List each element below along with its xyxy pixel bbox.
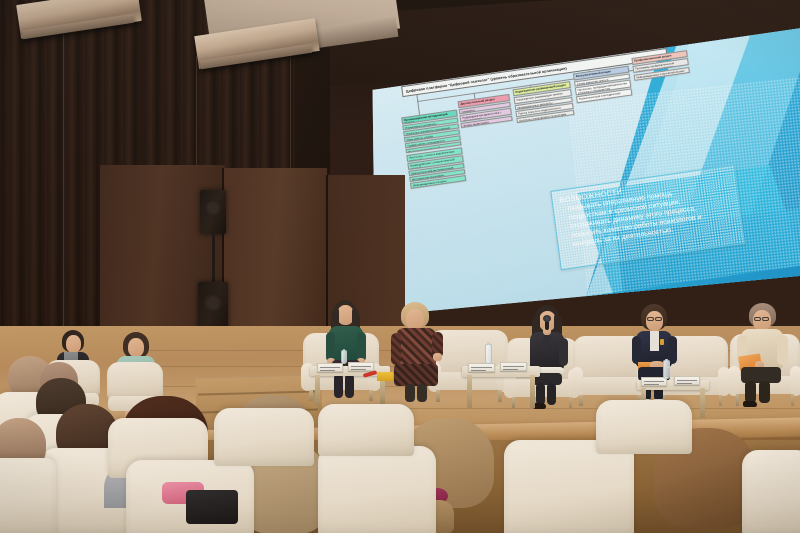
black-bag [186, 490, 238, 524]
leg-lower [405, 384, 415, 402]
name-card-line [320, 370, 334, 371]
name-card-line [320, 367, 340, 368]
name-card-line [351, 369, 365, 370]
head [406, 309, 424, 330]
diagram-column-consultative: Консультативный раздел Схема движения за… [573, 66, 633, 105]
loudspeaker-lower-grill [204, 294, 222, 312]
torso [396, 328, 436, 368]
skirt [394, 364, 438, 386]
blouse-white [650, 331, 659, 351]
arm-right [777, 335, 788, 365]
shoe [743, 401, 757, 407]
coffee-table-2 [462, 366, 540, 408]
arm-right [559, 338, 568, 366]
table-leg [700, 388, 705, 418]
table-leg [315, 375, 321, 406]
bottle-cap [343, 349, 345, 351]
name-card-line [644, 384, 658, 385]
bottle-cap [665, 359, 668, 362]
head [128, 338, 144, 357]
diagram-column-correctional: Коррекционно-развивающий раздел Коррекци… [513, 81, 575, 124]
arm-left [632, 336, 641, 364]
audience-seat-4 [0, 458, 56, 533]
leg-lower-2 [547, 383, 556, 405]
audience-seat-11 [318, 404, 414, 456]
diagram-column-diagnostic: Диагностический раздел Скрининги Индивид… [458, 94, 513, 129]
audience-seat-10 [214, 408, 314, 466]
wall-seam-3 [290, 50, 291, 170]
name-card-5 [641, 377, 667, 386]
glasses-icon [754, 317, 761, 321]
hand-right [433, 353, 442, 361]
yellow-folder [377, 372, 393, 381]
name-card-1 [317, 363, 343, 372]
glasses-icon-2 [762, 317, 769, 321]
name-card-line [503, 366, 524, 367]
panelist-5 [735, 303, 793, 405]
head [646, 311, 663, 331]
chair-back [107, 362, 163, 400]
lapel-badge [660, 339, 664, 345]
table-leg [530, 375, 535, 408]
audience-seat-7 [318, 446, 436, 533]
stage-wall-panel-2 [222, 168, 327, 338]
diagram-column-organizational: Организационно-методический раздел Норма… [401, 110, 466, 190]
audience-seat-9 [742, 450, 800, 533]
auditorium-photo-scene: Цифоровизация службы Цифровая платформа … [0, 0, 800, 533]
name-card-line [351, 366, 371, 367]
name-card-line [677, 380, 697, 381]
name-card-line [677, 383, 691, 384]
name-card-line [471, 367, 492, 368]
audience-seat-12 [596, 400, 692, 454]
panelist-2 [388, 302, 452, 404]
name-card-line [644, 381, 664, 382]
water-bottle-1 [341, 350, 347, 364]
head [66, 335, 81, 353]
water-bottle-3 [663, 360, 670, 379]
glasses-icon-2 [655, 317, 662, 321]
arm-left [391, 333, 401, 365]
wall-seam-1 [63, 30, 64, 330]
loudspeaker-upper-grill [205, 200, 221, 216]
table-leg [467, 375, 472, 408]
name-card-6 [674, 376, 700, 385]
leg-lower-2 [759, 381, 770, 403]
leg-lower-2 [417, 384, 427, 402]
chair-leg [719, 395, 723, 406]
diagram-drop-c1 [417, 101, 420, 115]
name-card-line [503, 369, 518, 370]
loudspeaker-stand-pole [212, 232, 215, 284]
microphone-head-icon [543, 315, 551, 322]
leg-lower [745, 381, 756, 403]
water-bottle-2 [485, 344, 492, 364]
name-card-3 [468, 363, 495, 372]
name-card-2 [348, 362, 374, 371]
name-card-4 [500, 362, 527, 371]
name-card-line [471, 370, 486, 371]
bottle-cap [487, 342, 490, 345]
glasses-icon [647, 317, 654, 321]
chair-leg [579, 395, 583, 406]
